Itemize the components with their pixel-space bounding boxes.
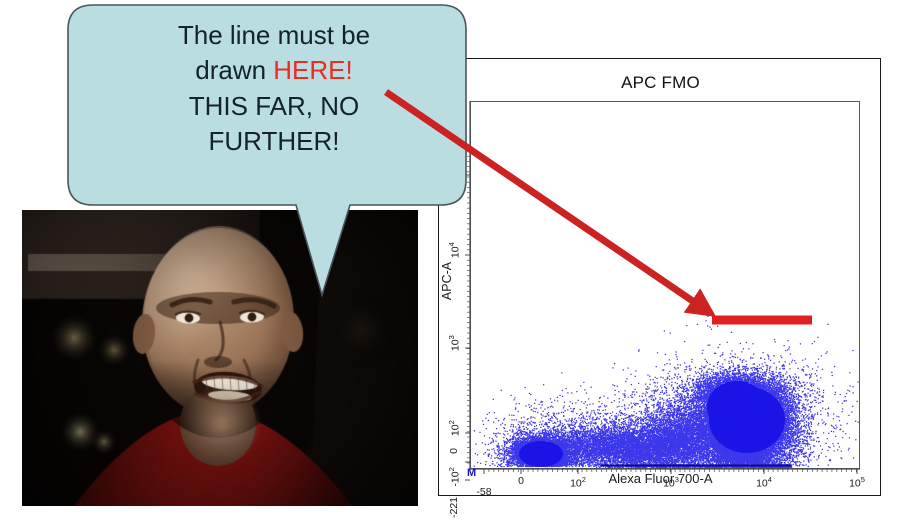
x-tick-label: 103 [653, 475, 689, 490]
x-tick-label: -58 [466, 486, 502, 498]
highlight-word: HERE! [273, 55, 352, 85]
x-tick-label: 102 [560, 475, 596, 490]
y-tick-label: 102 [447, 420, 462, 446]
x-tick-label: 0 [503, 475, 539, 487]
picard-meme-photo [22, 210, 418, 506]
flow-cytometry-plot-panel: APC FMO Alexa Fluor 700-A APC-A 10510410… [438, 58, 881, 496]
y-tick-label: 104 [447, 242, 462, 268]
origin-m-marker: M [467, 467, 476, 479]
photo-image [22, 210, 418, 506]
x-tick-label: 104 [746, 475, 782, 490]
y-tick-label: 105 [447, 162, 462, 188]
y-tick-label: -221 [448, 497, 460, 523]
bubble-line-4: FURTHER! [82, 124, 466, 159]
plot-axes [439, 59, 882, 497]
x-tick-label: 105 [839, 475, 875, 490]
bubble-line-2: drawn HERE! [82, 53, 466, 88]
bubble-line-1: The line must be [82, 18, 466, 53]
slide-canvas: APC FMO Alexa Fluor 700-A APC-A 10510410… [0, 0, 900, 527]
speech-bubble-text: The line must be drawn HERE! THIS FAR, N… [82, 18, 466, 159]
y-tick-label: -102 [447, 467, 462, 493]
bubble-line-3: THIS FAR, NO [82, 89, 466, 124]
y-tick-label: 103 [447, 335, 462, 361]
